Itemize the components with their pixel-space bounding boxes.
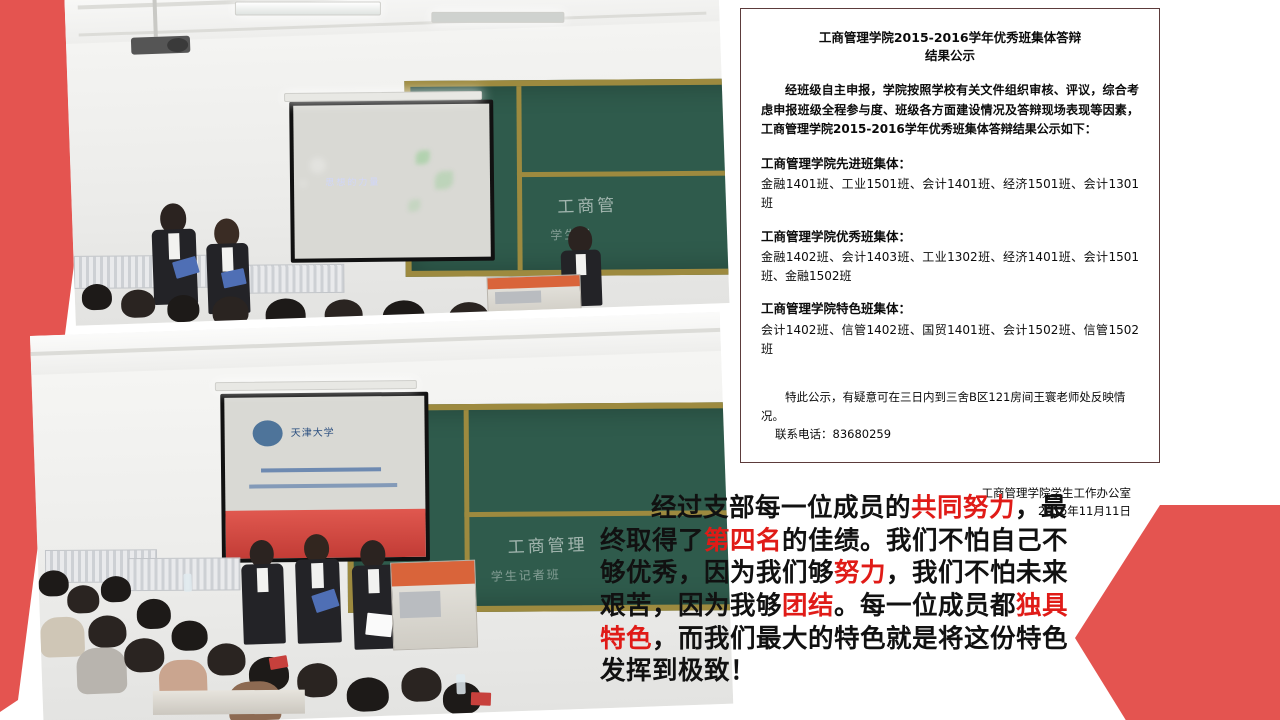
notice-title-line2: 结果公示 bbox=[761, 47, 1139, 65]
notice-section-excellent: 工商管理学院优秀班集体： 金融1402班、会计1403班、工业1302班、经济1… bbox=[761, 228, 1139, 286]
chalkboard-text-2-bottom: 学生记者班 bbox=[490, 566, 561, 585]
caption-seg-6: ，而我们最大的特色就是将这份特色发挥到极致！ bbox=[600, 624, 1068, 686]
photo-classroom-top: 工商管 学生记 思想的力量 bbox=[64, 0, 729, 326]
caption-highlight-2: 第四名 bbox=[704, 526, 782, 555]
notice-contact-phone: 联系电话：83680259 bbox=[761, 425, 1139, 443]
podium-bottom bbox=[390, 560, 478, 651]
caption-highlight-3: 努力 bbox=[834, 558, 886, 587]
notice-title-line1: 工商管理学院2015-2016学年优秀班集体答辩 bbox=[761, 29, 1139, 47]
podium-top bbox=[486, 274, 581, 320]
caption-highlight-4: 团结 bbox=[782, 591, 834, 620]
section-heading-distinctive: 工商管理学院特色班集体： bbox=[761, 300, 1139, 319]
slide-logo-text: 天津大学 bbox=[291, 424, 335, 439]
caption-highlight-1: 共同努力 bbox=[911, 493, 1015, 522]
section-body-distinctive: 会计1402班、信管1402班、国贸1401班、会计1502班、信管1502班 bbox=[761, 321, 1139, 358]
notice-footer-note: 特此公示，有疑意可在三日内到三舍B区121房间王寰老师处反映情况。 bbox=[761, 388, 1139, 425]
right-red-chevron-decoration bbox=[1075, 505, 1280, 720]
section-heading-advanced: 工商管理学院先进班集体： bbox=[761, 155, 1139, 174]
caption-seg-5: 。每一位成员都 bbox=[834, 591, 1016, 620]
chalkboard-text-1-bottom: 工商管理 bbox=[507, 530, 588, 558]
notice-document: 工商管理学院2015-2016学年优秀班集体答辩 结果公示 经班级自主申报，学院… bbox=[740, 8, 1160, 463]
caption-seg-1: 经过支部每一位成员的 bbox=[651, 493, 911, 522]
notice-section-distinctive: 工商管理学院特色班集体： 会计1402班、信管1402班、国贸1401班、会计1… bbox=[761, 300, 1139, 358]
notice-intro-paragraph: 经班级自主申报，学院按照学校有关文件组织审核、评议，综合考虑申报班级全程参与度、… bbox=[761, 81, 1139, 139]
chalkboard-text-1: 工商管 bbox=[557, 191, 618, 218]
section-body-excellent: 金融1402班、会计1403班、工业1302班、经济1401班、会计1501班、… bbox=[761, 248, 1139, 285]
section-body-advanced: 金融1401班、工业1501班、会计1401班、经济1501班、会计1301班 bbox=[761, 175, 1139, 212]
section-heading-excellent: 工商管理学院优秀班集体： bbox=[761, 228, 1139, 247]
university-logo-icon bbox=[253, 419, 283, 445]
notice-footer: 特此公示，有疑意可在三日内到三舍B区121房间王寰老师处反映情况。 联系电话：8… bbox=[761, 388, 1139, 443]
notice-section-advanced: 工商管理学院先进班集体： 金融1401班、工业1501班、会计1401班、经济1… bbox=[761, 155, 1139, 213]
slide-canvas: 工商管 学生记 思想的力量 bbox=[0, 0, 1280, 720]
caption-text-block: 经过支部每一位成员的共同努力，最终取得了第四名的佳绩。我们不怕自己不够优秀，因为… bbox=[600, 492, 1070, 688]
slide-title-top: 思想的力量 bbox=[325, 175, 380, 189]
notice-title: 工商管理学院2015-2016学年优秀班集体答辩 结果公示 bbox=[761, 29, 1139, 65]
projection-screen-top: 思想的力量 bbox=[289, 99, 495, 262]
